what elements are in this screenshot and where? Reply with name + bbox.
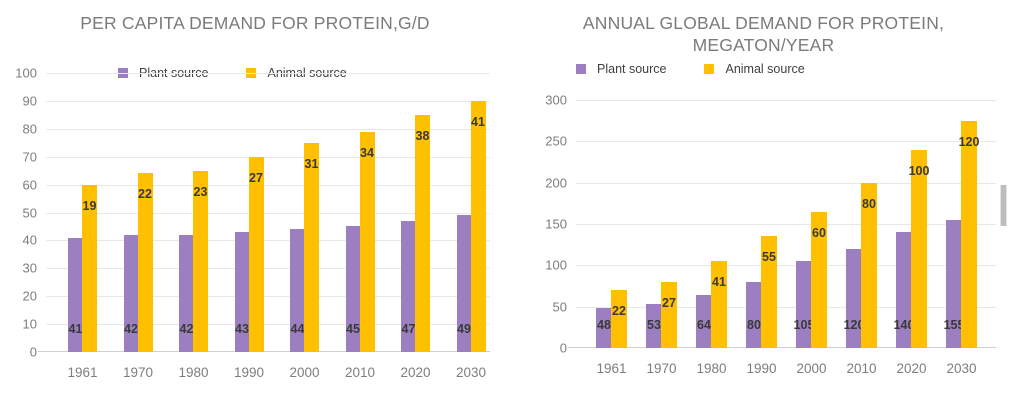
bar-plant-source[interactable]: 41 [68, 238, 83, 352]
bar-value-label: 41 [69, 322, 83, 336]
y-axis-tick-label: 50 [553, 299, 567, 314]
bar-animal-source[interactable]: 41 [711, 261, 727, 348]
bar-plant-source[interactable]: 42 [124, 235, 139, 352]
bar-animal-source[interactable]: 27 [661, 282, 677, 348]
bar-animal-source[interactable]: 41 [471, 101, 486, 352]
bar-value-label: 100 [909, 164, 930, 178]
x-axis-tick-label: 2000 [796, 361, 826, 376]
bar-plant-source[interactable]: 64 [696, 295, 712, 348]
gridline [576, 265, 996, 266]
x-axis-tick-label: 1990 [234, 365, 264, 380]
chart-panel-annual-global: ANNUAL GLOBAL DEMAND FOR PROTEIN, MEGATO… [510, 0, 1017, 403]
y-axis-tick-label: 10 [23, 317, 37, 332]
bar-plant-source[interactable]: 43 [235, 232, 250, 352]
bar-animal-source[interactable]: 31 [304, 143, 319, 352]
x-axis-tick-label: 1980 [178, 365, 208, 380]
y-axis-tick-label: 300 [545, 93, 567, 108]
x-axis-tick-label: 1961 [596, 361, 626, 376]
bar-value-label: 64 [697, 318, 711, 332]
chart-title-per-capita: PER CAPITA DEMAND FOR PROTEIN,G/D [0, 12, 510, 34]
bar-value-label: 48 [597, 318, 611, 332]
bar-animal-source[interactable]: 19 [82, 185, 97, 352]
bar-animal-source[interactable]: 27 [249, 157, 264, 352]
bar-value-label: 19 [83, 199, 97, 213]
bar-value-label: 60 [812, 226, 826, 240]
bar-value-label: 42 [124, 322, 138, 336]
legend-item-plant[interactable]: Plant source [576, 62, 666, 76]
bar-value-label: 53 [647, 318, 661, 332]
bar-value-label: 41 [471, 115, 485, 129]
y-axis-tick-label: 100 [15, 66, 37, 81]
bar-plant-source[interactable]: 48 [596, 308, 612, 348]
bar-value-label: 47 [402, 322, 416, 336]
bar-value-label: 31 [305, 157, 319, 171]
bar-plant-source[interactable]: 140 [896, 232, 912, 348]
bar-animal-source[interactable]: 38 [415, 115, 430, 352]
x-axis-tick-label: 2030 [456, 365, 486, 380]
y-axis-tick-label: 60 [23, 177, 37, 192]
bar-value-label: 22 [612, 304, 626, 318]
y-axis-tick-label: 0 [30, 345, 37, 360]
legend-swatch-animal-icon [704, 64, 714, 74]
y-axis-tick-label: 100 [545, 258, 567, 273]
bar-animal-source[interactable]: 100 [911, 150, 927, 348]
bar-plant-source[interactable]: 120 [846, 249, 862, 348]
bar-animal-source[interactable]: 34 [360, 132, 375, 352]
bar-animal-source[interactable]: 80 [861, 183, 877, 348]
bar-value-label: 120 [959, 135, 980, 149]
bar-animal-source[interactable]: 22 [138, 173, 153, 352]
x-axis-tick-label: 2030 [946, 361, 976, 376]
gridline [46, 73, 490, 74]
bar-plant-source[interactable]: 105 [796, 261, 812, 348]
bar-value-label: 22 [138, 187, 152, 201]
bar-plant-source[interactable]: 49 [457, 215, 472, 352]
chart-panel-per-capita: PER CAPITA DEMAND FOR PROTEIN,G/D Plant … [0, 0, 510, 403]
bar-value-label: 41 [712, 275, 726, 289]
y-axis-tick-label: 50 [23, 205, 37, 220]
legend-label-animal: Animal source [725, 62, 804, 76]
edge-scrollbar-nub[interactable] [1000, 185, 1007, 226]
bar-value-label: 38 [416, 129, 430, 143]
bar-value-label: 80 [747, 318, 761, 332]
x-axis-tick-label: 2010 [846, 361, 876, 376]
bar-plant-source[interactable]: 47 [401, 221, 416, 352]
x-axis-tick-label: 2000 [289, 365, 319, 380]
bar-value-label: 34 [360, 146, 374, 160]
x-axis-tick-label: 1980 [696, 361, 726, 376]
y-axis-tick-label: 90 [23, 93, 37, 108]
legend-item-animal[interactable]: Animal source [704, 62, 804, 76]
x-axis-tick-label: 2010 [345, 365, 375, 380]
x-axis-tick-label: 2020 [896, 361, 926, 376]
bar-value-label: 43 [235, 322, 249, 336]
bar-value-label: 80 [862, 197, 876, 211]
bar-value-label: 49 [457, 322, 471, 336]
charts-board: PER CAPITA DEMAND FOR PROTEIN,G/D Plant … [0, 0, 1017, 403]
bar-value-label: 42 [180, 322, 194, 336]
y-axis-tick-label: 70 [23, 149, 37, 164]
y-axis-tick-label: 30 [23, 261, 37, 276]
chart-title-annual-global: ANNUAL GLOBAL DEMAND FOR PROTEIN, MEGATO… [510, 12, 1017, 56]
legend-label-plant: Plant source [597, 62, 666, 76]
bar-plant-source[interactable]: 80 [746, 282, 762, 348]
bar-plant-source[interactable]: 45 [346, 226, 361, 352]
bar-plant-source[interactable]: 155 [946, 220, 962, 348]
bar-animal-source[interactable]: 22 [611, 290, 627, 348]
bar-value-label: 27 [249, 171, 263, 185]
bar-value-label: 44 [291, 322, 305, 336]
gridline [576, 141, 996, 142]
gridline [576, 183, 996, 184]
gridline [576, 100, 996, 101]
x-axis-tick-label: 1970 [123, 365, 153, 380]
x-axis-tick-label: 1961 [67, 365, 97, 380]
bar-value-label: 45 [346, 322, 360, 336]
bar-plant-source[interactable]: 42 [179, 235, 194, 352]
y-axis-tick-label: 40 [23, 233, 37, 248]
bar-value-label: 55 [762, 250, 776, 264]
gridline [576, 224, 996, 225]
bar-value-label: 23 [194, 185, 208, 199]
y-axis-tick-label: 20 [23, 289, 37, 304]
bar-value-label: 27 [662, 296, 676, 310]
bar-plant-source[interactable]: 44 [290, 229, 305, 352]
y-axis-tick-label: 0 [560, 341, 567, 356]
bar-animal-source[interactable]: 60 [811, 212, 827, 348]
bar-animal-source[interactable]: 120 [961, 121, 977, 348]
y-axis-tick-label: 200 [545, 175, 567, 190]
x-axis-tick-label: 1990 [746, 361, 776, 376]
y-axis-tick-label: 150 [545, 217, 567, 232]
x-axis-line [568, 347, 996, 349]
bar-animal-source[interactable]: 23 [193, 171, 208, 352]
plot-area-per-capita: 0102030405060708090100411919614222197042… [46, 73, 490, 352]
bar-plant-source[interactable]: 53 [646, 304, 662, 348]
bar-animal-source[interactable]: 55 [761, 236, 777, 348]
y-axis-tick-label: 250 [545, 134, 567, 149]
y-axis-tick-label: 80 [23, 121, 37, 136]
x-axis-tick-label: 2020 [400, 365, 430, 380]
gridline [576, 307, 996, 308]
legend-annual-global: Plant source Animal source [576, 62, 805, 76]
x-axis-tick-label: 1970 [646, 361, 676, 376]
plot-area-annual-global: 0501001502002503004822196153271970644119… [576, 100, 996, 348]
legend-swatch-plant-icon [576, 64, 586, 74]
gridline [46, 101, 490, 102]
